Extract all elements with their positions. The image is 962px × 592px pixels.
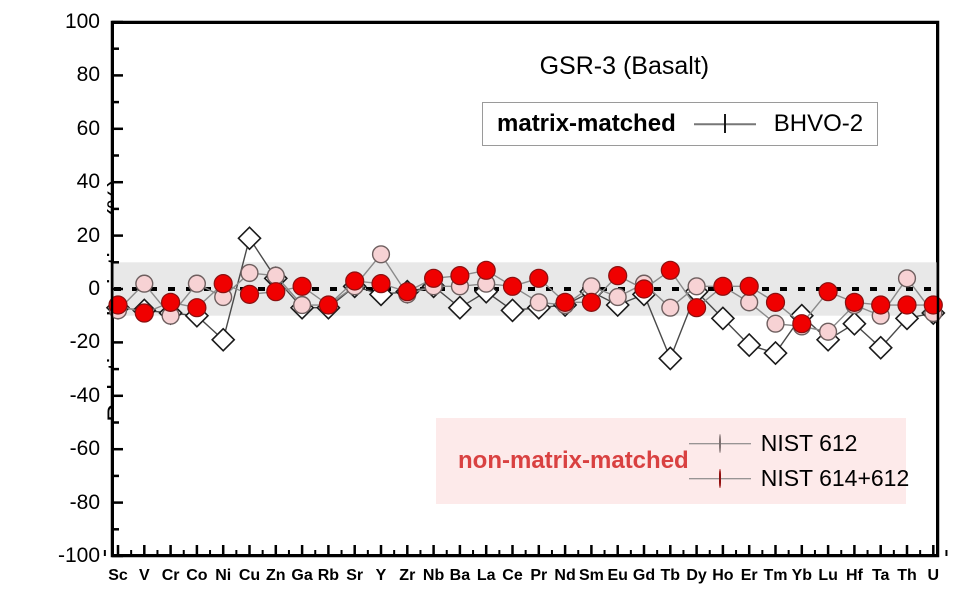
x-tick-label: U (913, 567, 953, 585)
y-tick-label: -100 (30, 544, 100, 568)
y-tick-label: -20 (30, 330, 100, 354)
y-tick-label: -80 (30, 491, 100, 515)
legend-group-label-matrix-matched: matrix-matched (497, 110, 676, 138)
legend-matrix-matched: matrix-matched BHVO-2 (482, 102, 878, 146)
y-tick-label: -40 (30, 384, 100, 408)
legend-row-nist-612: NIST 612 (689, 430, 910, 457)
chart-root: Relative deviation (%) GSR-3 (Basalt) ma… (0, 0, 962, 592)
red-circle-icon (689, 470, 751, 488)
open-diamond-icon (694, 115, 756, 133)
chart-title: GSR-3 (Basalt) (540, 52, 709, 81)
y-tick-label: 60 (30, 117, 100, 141)
pink-circle-icon (689, 435, 751, 453)
y-tick-label: 80 (30, 63, 100, 87)
legend-entry-nist-612: NIST 612 (761, 430, 858, 457)
y-tick-label: 0 (30, 277, 100, 301)
y-tick-label: -60 (30, 437, 100, 461)
legend-entry-nist-614-612: NIST 614+612 (761, 465, 910, 492)
legend-non-matrix-matched: non-matrix-matched NIST 612 NIST 614+612 (436, 418, 906, 504)
y-tick-label: 40 (30, 170, 100, 194)
legend-group-label-non-matrix-matched: non-matrix-matched (458, 447, 689, 475)
y-tick-label: 100 (30, 10, 100, 34)
y-tick-label: 20 (30, 224, 100, 248)
legend-row-nist-614-612: NIST 614+612 (689, 465, 910, 492)
legend-entry-bhvo2: BHVO-2 (774, 110, 863, 138)
